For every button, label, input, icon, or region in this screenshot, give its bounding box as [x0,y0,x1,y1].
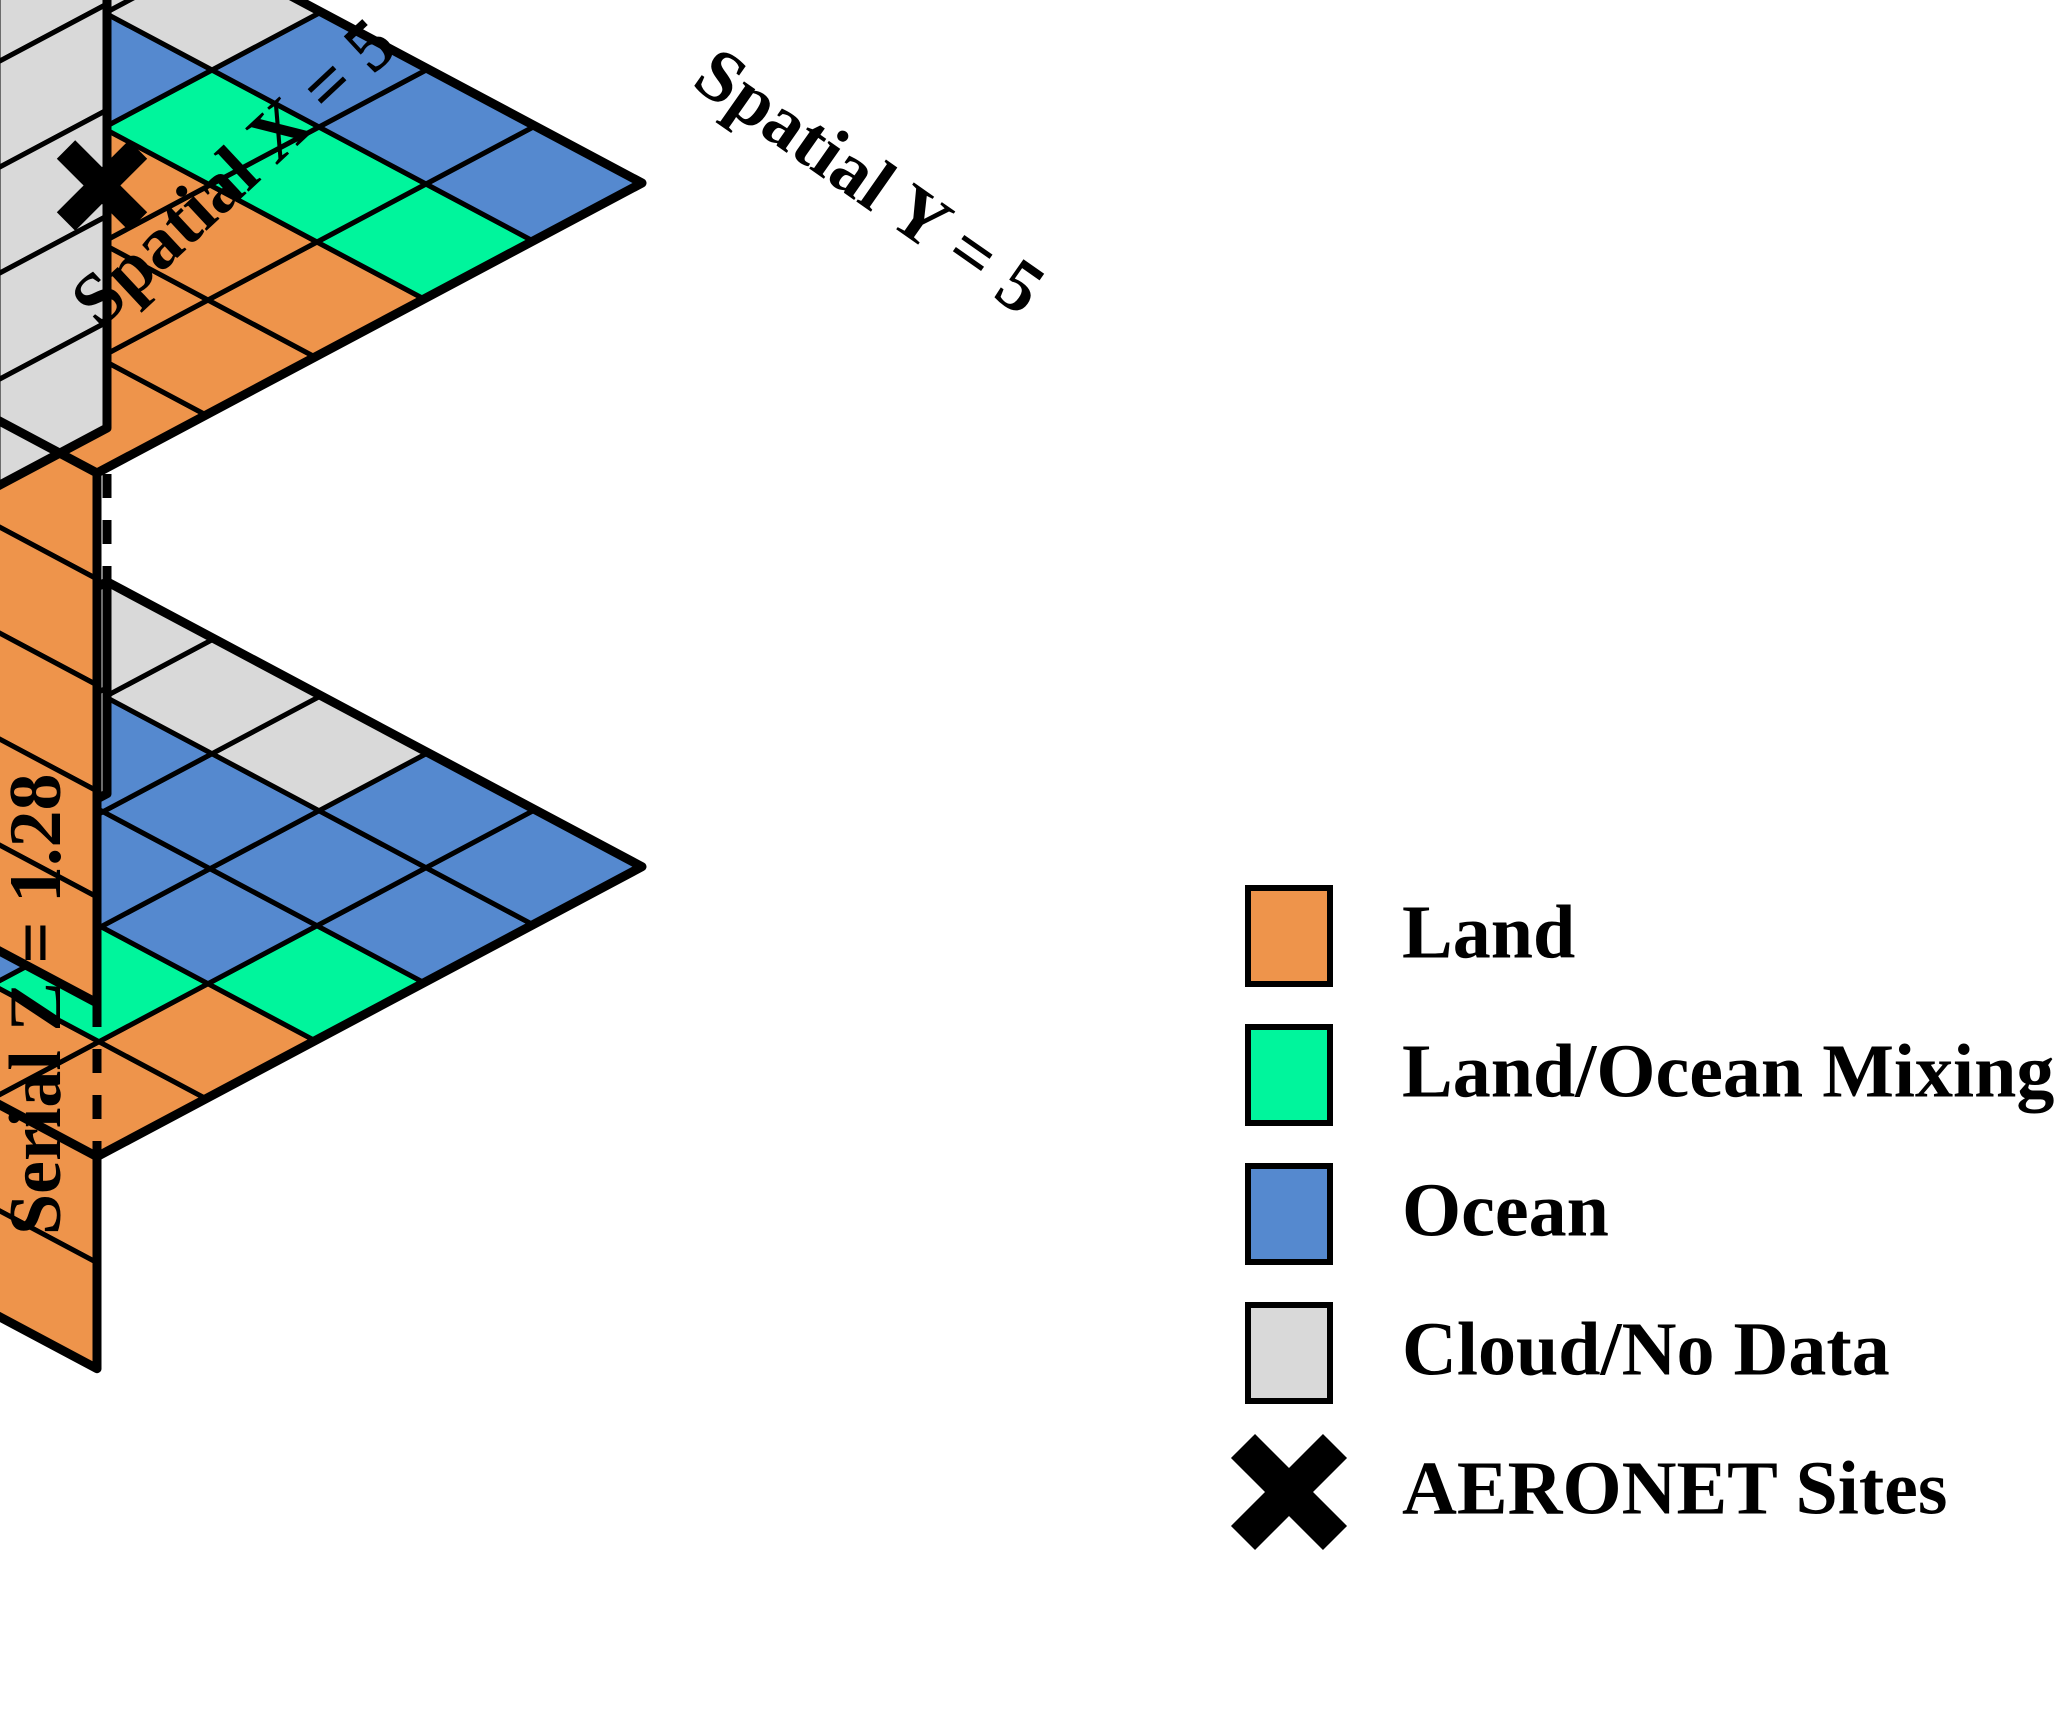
legend-label-land: Land [1402,890,1575,974]
legend-swatch-land [1248,888,1330,984]
axis-label-serial-z-text: Serial Z = 1.28 [0,774,77,1236]
data-cube-diagram: Spatial X = 5 Spatial Y = 5 Serial Z = 1… [0,0,2067,1735]
legend-swatch-cloud [1248,1305,1330,1401]
legend-item-cloud[interactable]: Cloud/No Data [1248,1305,1890,1401]
legend-item-land[interactable]: Land [1248,888,1575,984]
legend-swatch-mixing [1248,1027,1330,1123]
legend-label-mixing: Land/Ocean Mixing [1402,1029,2054,1113]
legend-item-aeronet[interactable]: AERONET Sites [1243,1446,1947,1538]
legend-label-aeronet: AERONET Sites [1402,1446,1947,1530]
legend-item-ocean[interactable]: Ocean [1248,1166,1609,1262]
axis-label-serial-z: Serial Z = 1.28 [0,774,77,1236]
axis-label-spatial-y: Spatial Y = 5 [680,32,1059,331]
legend: LandLand/Ocean MixingOceanCloud/No DataA… [1243,888,2054,1538]
legend-label-cloud: Cloud/No Data [1402,1307,1890,1391]
legend-item-mixing[interactable]: Land/Ocean Mixing [1248,1027,2054,1123]
legend-label-ocean: Ocean [1402,1168,1609,1252]
axis-label-spatial-y-text: Spatial Y = 5 [680,32,1059,331]
figure-canvas: Spatial X = 5 Spatial Y = 5 Serial Z = 1… [0,0,2067,1735]
legend-swatch-ocean [1248,1166,1330,1262]
